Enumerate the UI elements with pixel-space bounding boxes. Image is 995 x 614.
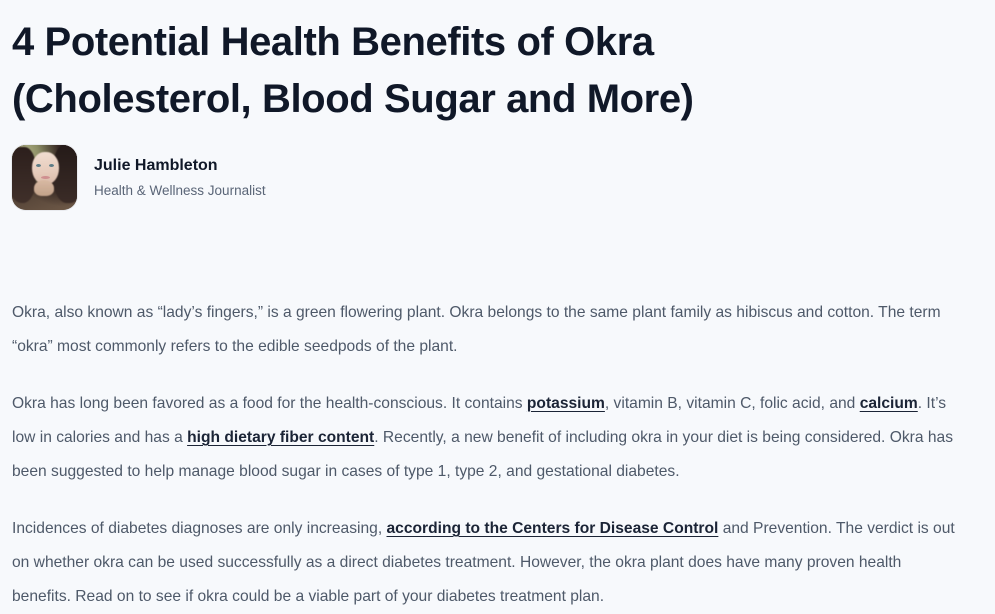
paragraph-intro: Okra, also known as “lady’s fingers,” is… <box>12 296 960 364</box>
inline-link[interactable]: calcium <box>860 395 918 412</box>
avatar-hand <box>34 180 54 196</box>
inline-link[interactable]: potassium <box>527 395 605 412</box>
author-role: Health & Wellness Journalist <box>94 181 266 201</box>
author-text: Julie Hambleton Health & Wellness Journa… <box>94 154 266 201</box>
inline-link[interactable]: according to the Centers for Disease Con… <box>387 520 719 537</box>
author-block: Julie Hambleton Health & Wellness Journa… <box>12 145 983 211</box>
inline-link[interactable]: high dietary fiber content <box>187 429 374 446</box>
paragraph-nutrition: Okra has long been favored as a food for… <box>12 387 960 489</box>
avatar <box>12 145 77 210</box>
page-title: 4 Potential Health Benefits of Okra (Cho… <box>12 0 912 128</box>
page-title-line-1: 4 Potential Health Benefits of Okra <box>12 14 912 71</box>
article-page: 4 Potential Health Benefits of Okra (Cho… <box>0 0 995 607</box>
page-title-line-2: (Cholesterol, Blood Sugar and More) <box>12 71 912 128</box>
paragraph-diabetes: Incidences of diabetes diagnoses are onl… <box>12 512 960 614</box>
article-body: Okra, also known as “lady’s fingers,” is… <box>12 296 960 614</box>
author-name: Julie Hambleton <box>94 154 266 178</box>
